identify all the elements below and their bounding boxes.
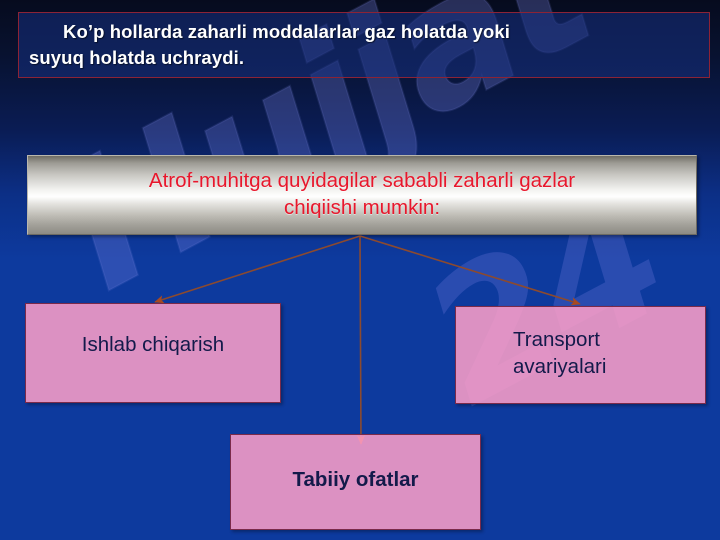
arrow-to-tabiiy xyxy=(360,236,361,444)
slide-canvas: Hujjat 24 Ko’p hollarda zaharli moddalar… xyxy=(0,0,720,540)
node-label-tabiiy-ofatlar: Tabiiy ofatlar xyxy=(292,466,418,497)
arrow-to-transport xyxy=(360,236,580,304)
slide-title-box: Ko’p hollarda zaharli moddalarlar gaz ho… xyxy=(18,12,710,78)
node-box-tabiiy-ofatlar: Tabiiy ofatlar xyxy=(230,434,481,530)
arrow-to-ishlab xyxy=(155,236,360,302)
header-callout-box: Atrof-muhitga quyidagilar sababli zaharl… xyxy=(27,155,697,235)
node-label-transport-avariyalari: Transport avariyalari xyxy=(456,326,606,384)
slide-title-text: Ko’p hollarda zaharli moddalarlar gaz ho… xyxy=(29,19,699,70)
node-box-ishlab-chiqarish: Ishlab chiqarish xyxy=(25,303,281,403)
node-label-ishlab-chiqarish: Ishlab chiqarish xyxy=(82,331,224,374)
node-box-transport-avariyalari: Transport avariyalari xyxy=(455,306,706,404)
header-callout-text: Atrof-muhitga quyidagilar sababli zaharl… xyxy=(135,168,589,221)
